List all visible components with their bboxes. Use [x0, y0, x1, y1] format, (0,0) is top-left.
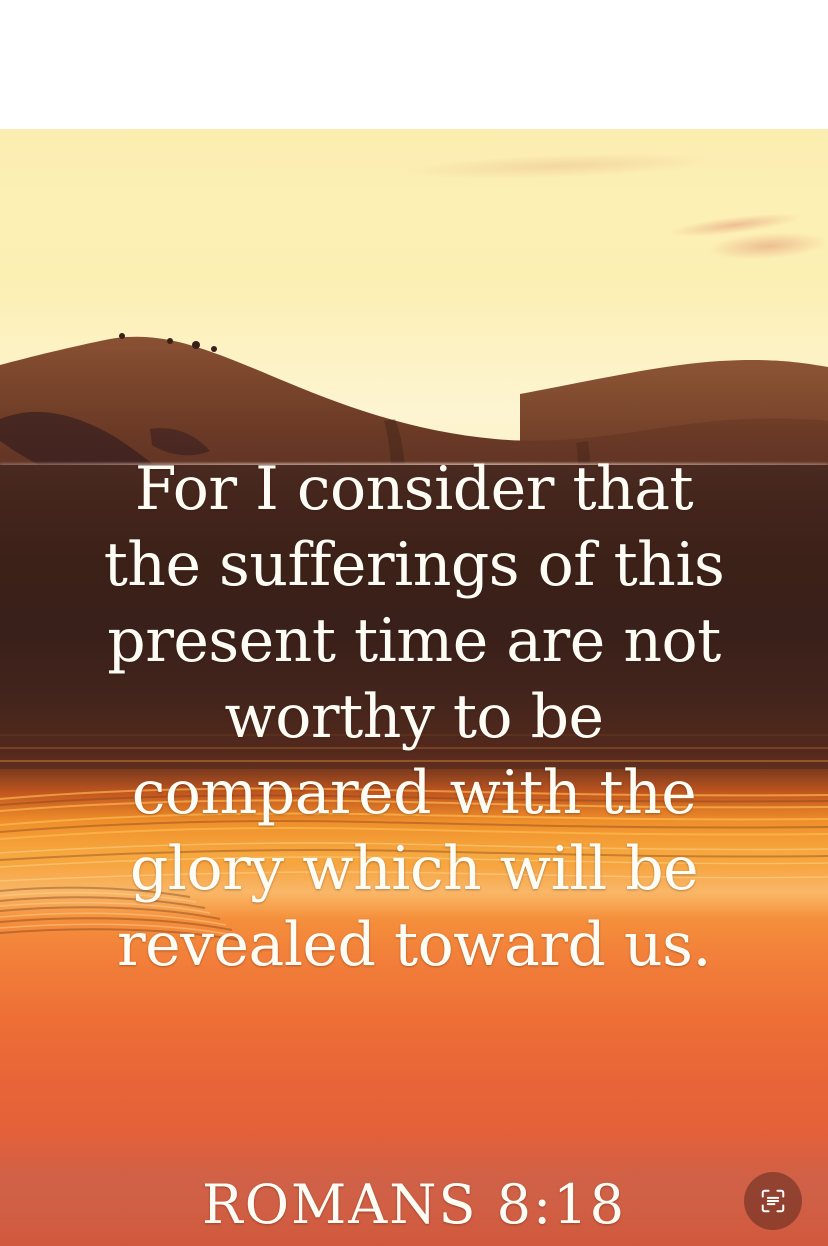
water-reflection-lines: [0, 741, 828, 981]
text-scan-button[interactable]: [744, 1172, 802, 1230]
screen-root: For I consider that the sufferings of th…: [0, 0, 828, 1246]
text-scan-icon: [759, 1187, 787, 1215]
sunset-photo[interactable]: For I consider that the sufferings of th…: [0, 129, 828, 1246]
water-haze-band: [0, 1129, 828, 1246]
top-blank-area: [0, 0, 828, 129]
